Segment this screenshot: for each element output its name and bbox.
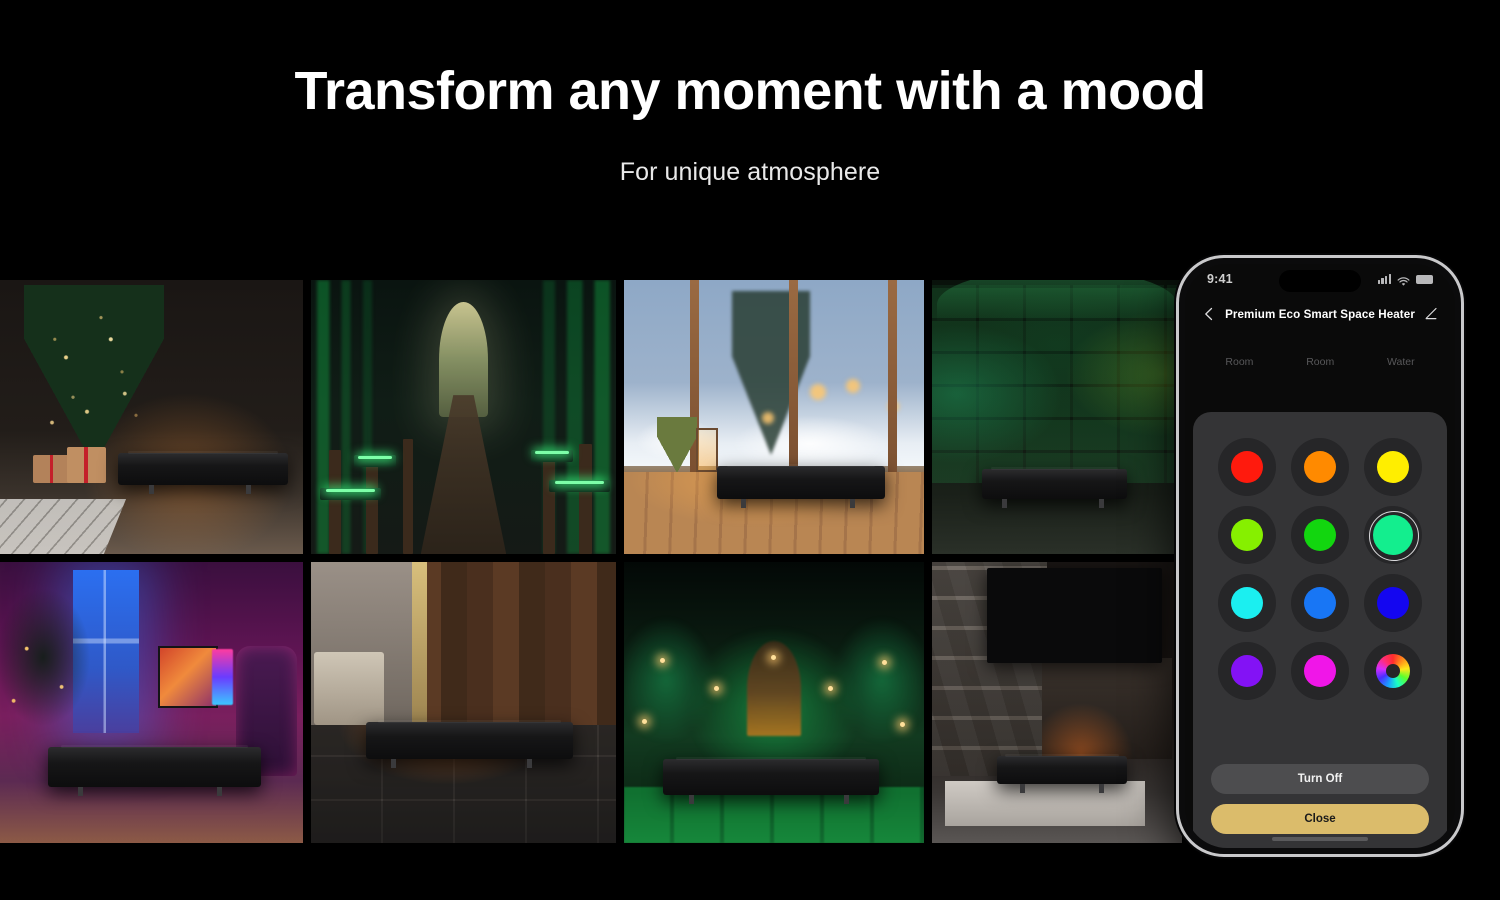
arch-ceiling-shape	[937, 280, 1177, 340]
heater-leg	[1002, 499, 1007, 508]
swatch-dot	[1304, 519, 1336, 551]
heater-unit	[549, 480, 610, 492]
heater-leg	[689, 795, 694, 804]
flame-effect	[730, 440, 874, 466]
window-mullion	[888, 280, 897, 494]
wifi-icon	[1397, 274, 1410, 284]
candle-light	[660, 658, 665, 663]
gallery-tile-cathedral-nave-scene[interactable]: Cathedral nave with green uplit columns	[311, 280, 616, 554]
gallery-tile-snowy-window-scene[interactable]: Winter cabin window with snow and lanter…	[624, 280, 924, 554]
color-wheel-icon	[1376, 654, 1410, 688]
pew-shape	[403, 439, 414, 554]
heater-unit	[354, 455, 397, 467]
heater-leg	[1020, 784, 1025, 793]
gallery-tile-gaming-room-scene[interactable]: Gaming room with purple and blue RGB lig…	[0, 562, 303, 843]
color-swatch-lime[interactable]	[1218, 506, 1276, 564]
color-swatch-blue[interactable]	[1364, 574, 1422, 632]
phone-screen: 9:41	[1185, 264, 1455, 848]
color-swatch-green[interactable]	[1291, 506, 1349, 564]
candle-light	[714, 686, 719, 691]
pine-tree-shape	[732, 291, 810, 455]
pew-shape	[579, 444, 591, 554]
close-button[interactable]: Close	[1211, 804, 1429, 834]
gift-box-shape	[33, 455, 69, 482]
flame-effect	[1007, 730, 1119, 756]
heater-leg	[844, 795, 849, 804]
page-root: Transform any moment with a mood For uni…	[0, 0, 1500, 900]
swatch-dot	[1231, 655, 1263, 687]
heater-unit	[982, 469, 1127, 499]
gallery-tile-medieval-hall-scene[interactable]: Medieval hall with candles and green fla…	[624, 562, 924, 843]
armchair-shape	[314, 652, 384, 725]
page-title-phone: Premium Eco Smart Space Heater	[1217, 308, 1423, 321]
heater-leg	[149, 485, 154, 494]
mood-gallery-grid: Christmas tree with gifts and amber flam…	[0, 280, 1175, 843]
turn-off-button[interactable]: Turn Off	[1211, 764, 1429, 794]
heater-leg	[78, 787, 83, 796]
pc-rgb-lights	[212, 649, 233, 705]
battery-icon	[1416, 275, 1433, 284]
status-icons	[1378, 274, 1433, 284]
color-swatch-cyan[interactable]	[1218, 574, 1276, 632]
flame-effect	[382, 682, 560, 722]
hearth-slab-shape	[945, 781, 1145, 826]
rug-shape	[0, 499, 126, 554]
bokeh-light	[762, 412, 774, 424]
heater-leg	[1099, 784, 1104, 793]
candle-light	[828, 686, 833, 691]
home-indicator	[1272, 837, 1368, 841]
heater-unit	[118, 453, 288, 486]
heater-leg	[391, 759, 396, 768]
heater-leg	[850, 499, 855, 508]
color-swatch-red[interactable]	[1218, 438, 1276, 496]
gallery-tile-green-stone-arch-scene[interactable]: Dark stone arch room with green flames	[932, 280, 1182, 554]
heater-unit	[531, 450, 574, 462]
flame-effect	[994, 443, 1119, 469]
tv-screen-shape	[987, 568, 1162, 664]
potted-tree-shape	[657, 417, 697, 473]
heater-leg	[527, 759, 532, 768]
color-swatch-grid	[1211, 438, 1429, 700]
heater-leg	[217, 787, 222, 796]
monitor-shape	[158, 646, 219, 708]
metric-label-water: Water	[1387, 356, 1415, 368]
swatch-dot	[1231, 451, 1263, 483]
heater-leg	[246, 485, 251, 494]
color-picker-sheet: Turn Off Close	[1193, 412, 1447, 848]
status-bar: 9:41	[1185, 264, 1455, 294]
pew-shape	[329, 450, 341, 554]
color-swatch-violet[interactable]	[1218, 642, 1276, 700]
edit-pencil-icon[interactable]	[1423, 306, 1439, 322]
chevron-left-icon[interactable]	[1201, 306, 1217, 322]
swatch-dot	[1377, 451, 1409, 483]
swatch-dot	[1373, 515, 1413, 555]
flame-effect	[680, 725, 866, 759]
lantern-shape	[696, 428, 718, 472]
pew-shape	[543, 455, 555, 554]
pew-shape	[366, 461, 378, 554]
heater-unit	[48, 747, 260, 786]
candle-light	[771, 655, 776, 660]
gallery-tile-rustic-wood-scene[interactable]: Reclaimed wood wall with tall orange fla…	[311, 562, 616, 843]
heater-unit	[366, 722, 573, 759]
color-swatch-azure[interactable]	[1291, 574, 1349, 632]
heater-unit	[997, 756, 1127, 784]
swatch-dot	[1304, 655, 1336, 687]
bokeh-light	[810, 384, 826, 400]
swatch-dot	[1304, 451, 1336, 483]
page-title: Transform any moment with a mood	[0, 62, 1500, 121]
swatch-dot	[1377, 587, 1409, 619]
heater-leg	[741, 499, 746, 508]
dynamic-island	[1279, 270, 1361, 292]
heater-unit	[320, 488, 381, 500]
flame-effect	[132, 427, 278, 453]
page-subtitle: For unique atmosphere	[0, 158, 1500, 187]
phone-mockup: 9:41	[1176, 255, 1464, 857]
metric-label-room-1: Room	[1225, 356, 1253, 368]
color-swatch-color-wheel[interactable]	[1364, 642, 1422, 700]
nav-bar: Premium Eco Smart Space Heater	[1185, 294, 1455, 328]
gallery-tile-christmas-tree-scene[interactable]: Christmas tree with gifts and amber flam…	[0, 280, 303, 554]
metric-label-room-2: Room	[1306, 356, 1334, 368]
heater-unit	[663, 759, 879, 796]
color-swatch-orange[interactable]	[1291, 438, 1349, 496]
heater-leg	[1099, 499, 1104, 508]
swatch-dot	[1231, 519, 1263, 551]
color-swatch-magenta[interactable]	[1291, 642, 1349, 700]
swatch-dot	[1304, 587, 1336, 619]
bokeh-light	[846, 379, 860, 393]
cellular-signal-icon	[1378, 274, 1391, 284]
status-time: 9:41	[1207, 272, 1233, 286]
color-swatch-spring-green[interactable]	[1364, 506, 1422, 564]
swatch-dot	[1231, 587, 1263, 619]
metric-labels-row: Room Room Water	[1185, 328, 1455, 368]
gift-box-shape	[67, 447, 106, 483]
green-floor-shape	[624, 787, 924, 843]
gallery-tile-stone-wall-tv-scene[interactable]: Stone wall with mounted TV and orange fl…	[932, 562, 1182, 843]
heater-unit	[717, 466, 885, 499]
color-swatch-yellow[interactable]	[1364, 438, 1422, 496]
flame-effect	[65, 721, 247, 747]
